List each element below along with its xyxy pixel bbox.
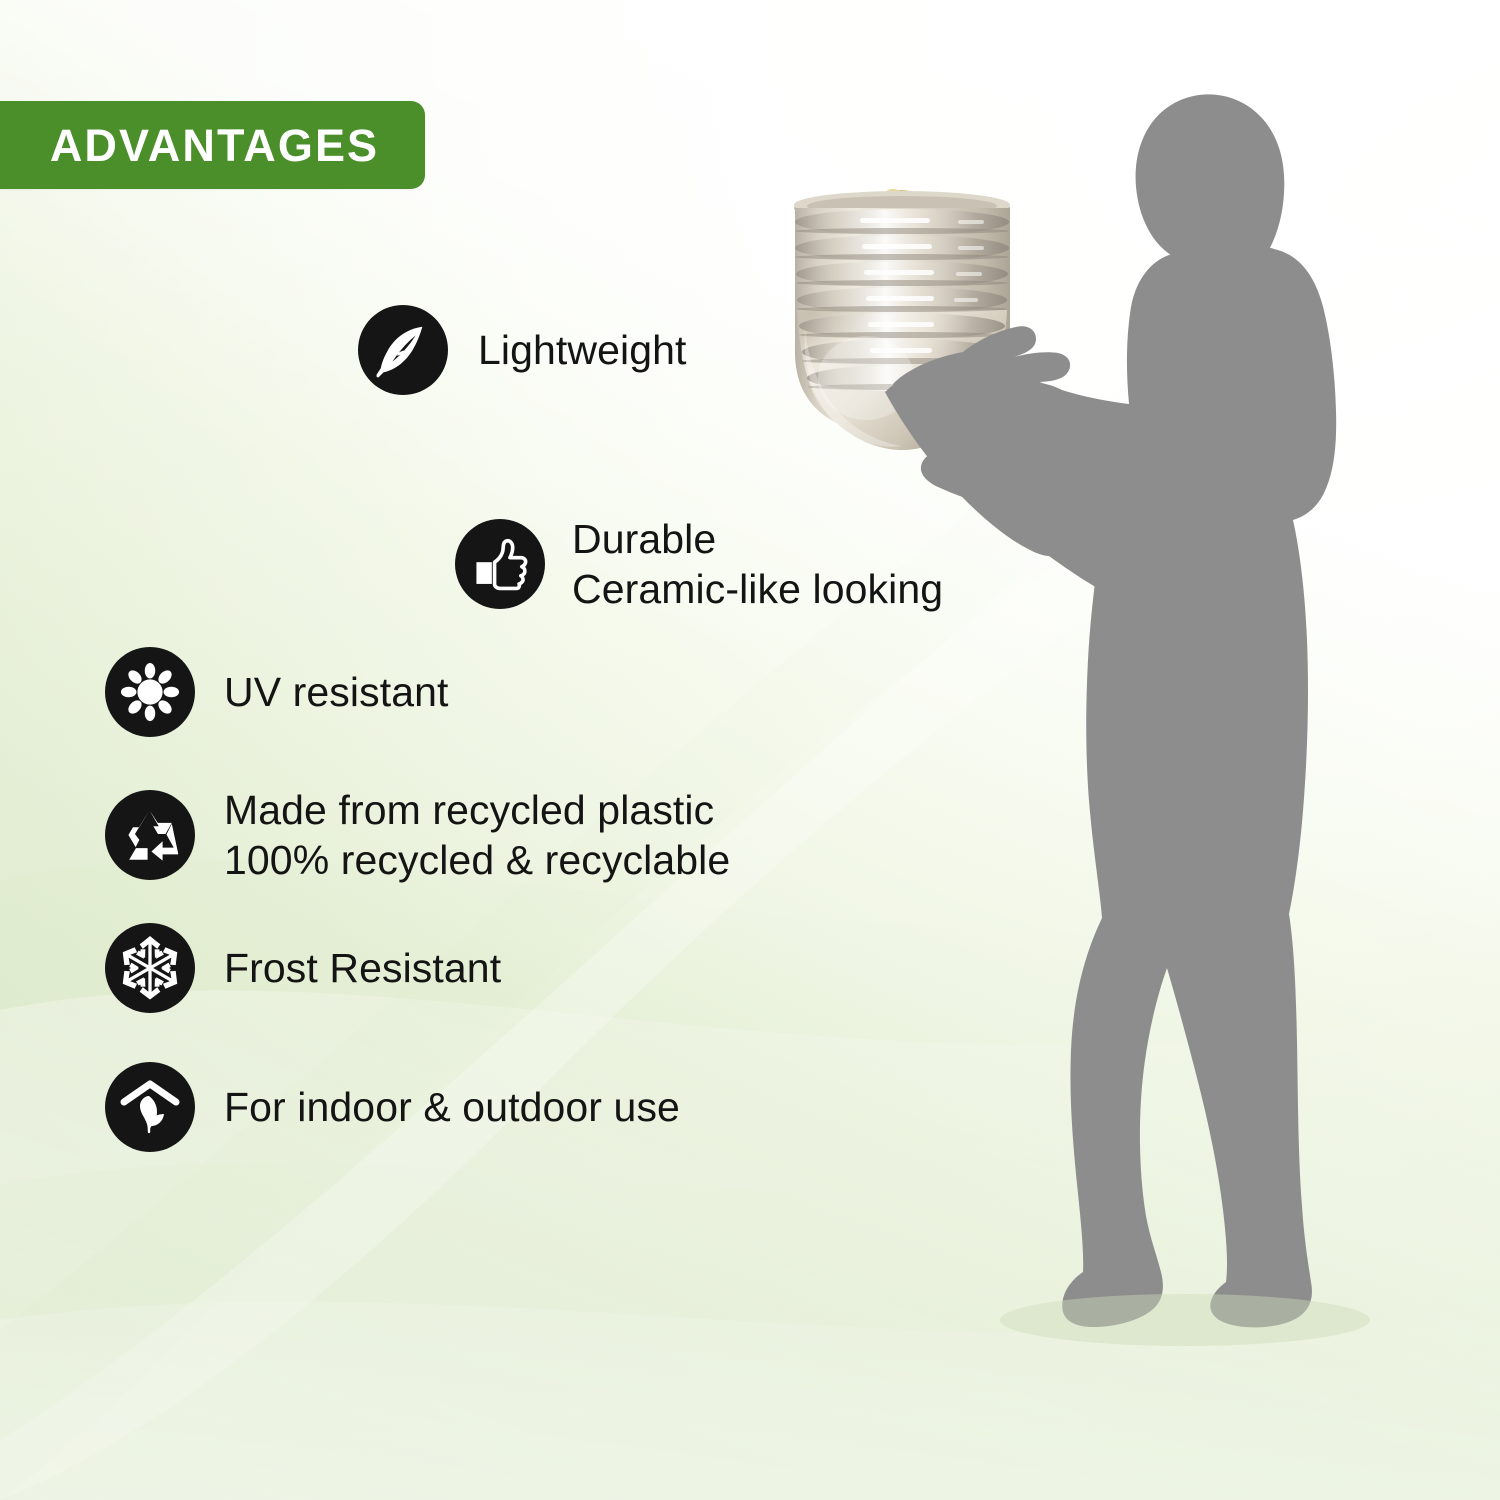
- feature-label: Frost Resistant: [224, 943, 501, 993]
- feather-icon: [358, 305, 448, 395]
- house-plant-icon: [105, 1062, 195, 1152]
- feature-item-durable: Durable Ceramic-like looking: [455, 514, 943, 614]
- feature-label: For indoor & outdoor use: [224, 1082, 680, 1132]
- feature-label: Lightweight: [478, 325, 687, 375]
- thumbs-up-icon: [455, 519, 545, 609]
- feature-item-frost-resistant: Frost Resistant: [105, 923, 501, 1013]
- feature-item-uv-resistant: UV resistant: [105, 647, 449, 737]
- feature-item-recycled: Made from recycled plastic 100% recycled…: [105, 785, 730, 885]
- advantages-badge-label: ADVANTAGES: [24, 123, 379, 168]
- recycle-icon: [105, 790, 195, 880]
- infographic-canvas: ADVANTAGES Lightweight Durable Ceramic-l…: [0, 0, 1500, 1500]
- sun-icon: [105, 647, 195, 737]
- feature-label: Durable Ceramic-like looking: [572, 514, 943, 614]
- feature-item-lightweight: Lightweight: [358, 305, 687, 395]
- snowflake-icon: [105, 923, 195, 1013]
- background-light-wash: [0, 0, 1500, 1500]
- feature-item-indoor-outdoor: For indoor & outdoor use: [105, 1062, 680, 1152]
- feature-label: UV resistant: [224, 667, 449, 717]
- feature-label: Made from recycled plastic 100% recycled…: [224, 785, 730, 885]
- advantages-badge: ADVANTAGES: [0, 101, 425, 189]
